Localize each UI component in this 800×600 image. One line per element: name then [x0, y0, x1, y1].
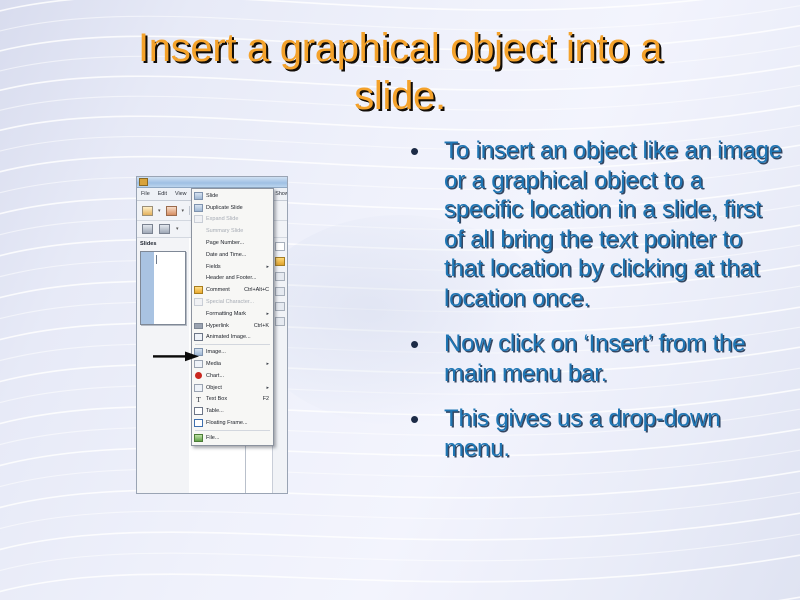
- submenu-arrow-icon: ▸: [266, 264, 273, 270]
- menu-item-text-box[interactable]: T Text Box F2: [192, 394, 273, 406]
- menu-item-label: Chart...: [205, 373, 269, 379]
- menu-item-object[interactable]: Object ▸: [192, 382, 273, 394]
- menu-item-label: Media: [205, 361, 266, 367]
- floating-frame-icon: [192, 419, 205, 427]
- menu-item-label: Date and Time...: [205, 252, 269, 258]
- menu-item-fields[interactable]: Fields ▸: [192, 261, 273, 273]
- menu-item-label: Image...: [205, 349, 269, 355]
- menu-view[interactable]: View: [174, 191, 188, 197]
- gallery-icon[interactable]: [275, 257, 285, 266]
- slides-pane-label: Slides: [137, 238, 189, 249]
- embedded-screenshot-impress-window: File Edit View Insert Format Tools Slide…: [136, 176, 288, 494]
- menu-item-label: Page Number...: [205, 240, 269, 246]
- menu-item-formatting-mark[interactable]: Formatting Mark ▸: [192, 308, 273, 320]
- menu-item-label: Animated Image...: [205, 334, 269, 340]
- menu-item-label: Table...: [205, 408, 269, 414]
- thumbnail-selection-band: [141, 252, 154, 324]
- bullet-marker: •: [404, 136, 444, 166]
- chevron-down-icon[interactable]: ▾: [182, 208, 185, 214]
- bullet-item: • This gives us a drop-down menu.: [404, 404, 782, 463]
- text-box-icon: T: [192, 396, 205, 403]
- menu-item-label: Special Character...: [205, 299, 269, 305]
- menu-item-label: Header and Footer...: [205, 275, 269, 281]
- expand-slide-icon: [192, 215, 205, 223]
- display-views-icon[interactable]: [159, 224, 170, 234]
- bullet-text: This gives us a drop-down menu.: [444, 404, 782, 463]
- chevron-down-icon[interactable]: ▾: [176, 226, 179, 232]
- menu-item-date-and-time[interactable]: Date and Time...: [192, 249, 273, 261]
- object-icon: [192, 384, 205, 392]
- comment-icon: [192, 286, 205, 294]
- slide-transition-icon[interactable]: [275, 317, 285, 326]
- new-document-icon[interactable]: [142, 206, 153, 216]
- menu-item-accelerator: F2: [263, 396, 273, 402]
- menu-item-floating-frame[interactable]: Floating Frame...: [192, 417, 273, 429]
- menu-item-accelerator: Ctrl+Alt+C: [244, 287, 273, 293]
- menu-item-comment[interactable]: Comment Ctrl+Alt+C: [192, 284, 273, 296]
- menu-item-image[interactable]: Image...: [192, 346, 273, 358]
- animated-image-icon: [192, 333, 205, 341]
- zoom-icon[interactable]: [142, 224, 153, 234]
- shapes-icon[interactable]: [275, 272, 285, 281]
- master-slides-icon[interactable]: [275, 287, 285, 296]
- menu-item-label: Fields: [205, 264, 266, 270]
- menu-item-special-character: Special Character...: [192, 296, 273, 308]
- menu-item-accelerator: Ctrl+K: [254, 323, 273, 329]
- menu-item-label: Expand Slide: [205, 216, 269, 222]
- open-document-icon[interactable]: [166, 206, 177, 216]
- menu-item-hyperlink[interactable]: Hyperlink Ctrl+K: [192, 320, 273, 332]
- text-cursor: [156, 255, 157, 264]
- insert-dropdown-menu[interactable]: Slide Duplicate Slide Expand Slide Summa…: [191, 188, 274, 446]
- menu-item-table[interactable]: Table...: [192, 405, 273, 417]
- table-icon: [192, 407, 205, 415]
- bullet-item: • Now click on ‘Insert’ from the main me…: [404, 329, 782, 388]
- bullet-marker: •: [404, 329, 444, 359]
- hyperlink-icon: [192, 323, 205, 329]
- properties-icon[interactable]: [275, 242, 285, 251]
- menu-item-label: Floating Frame...: [205, 420, 269, 426]
- menu-item-page-number[interactable]: Page Number...: [192, 237, 273, 249]
- menu-item-label: Hyperlink: [205, 323, 254, 329]
- menu-item-duplicate-slide[interactable]: Duplicate Slide: [192, 202, 273, 214]
- menu-item-animated-image[interactable]: Animated Image...: [192, 332, 273, 344]
- slide-icon: [192, 192, 205, 200]
- submenu-arrow-icon: ▸: [266, 361, 273, 367]
- window-title-bar: [137, 177, 287, 188]
- submenu-arrow-icon: ▸: [266, 311, 273, 317]
- animation-icon[interactable]: [275, 302, 285, 311]
- menu-separator: [195, 344, 270, 345]
- bullet-item: • To insert an object like an image or a…: [404, 136, 782, 313]
- bullet-text: Now click on ‘Insert’ from the main menu…: [444, 329, 782, 388]
- menu-item-file[interactable]: File...: [192, 432, 273, 444]
- slide-title: Insert a graphical object into a slide.: [40, 24, 760, 120]
- menu-item-label: File...: [205, 435, 269, 441]
- menu-item-header-and-footer[interactable]: Header and Footer...: [192, 273, 273, 285]
- submenu-arrow-icon: ▸: [266, 385, 273, 391]
- menu-edit[interactable]: Edit: [157, 191, 168, 197]
- menu-item-label: Object: [205, 385, 266, 391]
- slide-thumbnail[interactable]: [140, 251, 186, 325]
- menu-item-label: Duplicate Slide: [205, 205, 269, 211]
- file-icon: [192, 434, 205, 442]
- special-character-icon: [192, 298, 205, 306]
- slides-pane: Slides: [137, 238, 190, 494]
- menu-item-label: Slide: [205, 193, 269, 199]
- slide-body-bullet-list: • To insert an object like an image or a…: [404, 136, 782, 479]
- menu-separator: [195, 430, 270, 431]
- chart-icon: [192, 372, 205, 379]
- toolbar-separator: [189, 206, 190, 215]
- presentation-slide: Insert a graphical object into a slide. …: [0, 0, 800, 600]
- menu-item-chart[interactable]: Chart...: [192, 370, 273, 382]
- menu-file[interactable]: File: [140, 191, 151, 197]
- chevron-down-icon[interactable]: ▾: [158, 208, 161, 214]
- menu-item-label: Formatting Mark: [205, 311, 266, 317]
- menu-item-slide[interactable]: Slide: [192, 190, 273, 202]
- right-side-toolbar: [272, 238, 287, 494]
- menu-item-label: Text Box: [205, 396, 263, 402]
- duplicate-slide-icon: [192, 204, 205, 212]
- menu-item-summary-slide: Summary Slide: [192, 225, 273, 237]
- bullet-marker: •: [404, 404, 444, 434]
- menu-item-label: Comment: [205, 287, 244, 293]
- app-icon: [139, 178, 148, 186]
- menu-item-label: Summary Slide: [205, 228, 269, 234]
- bullet-text: To insert an object like an image or a g…: [444, 136, 782, 313]
- menu-item-media[interactable]: Media ▸: [192, 358, 273, 370]
- menu-item-expand-slide: Expand Slide: [192, 214, 273, 226]
- annotation-arrow-icon: [153, 351, 199, 362]
